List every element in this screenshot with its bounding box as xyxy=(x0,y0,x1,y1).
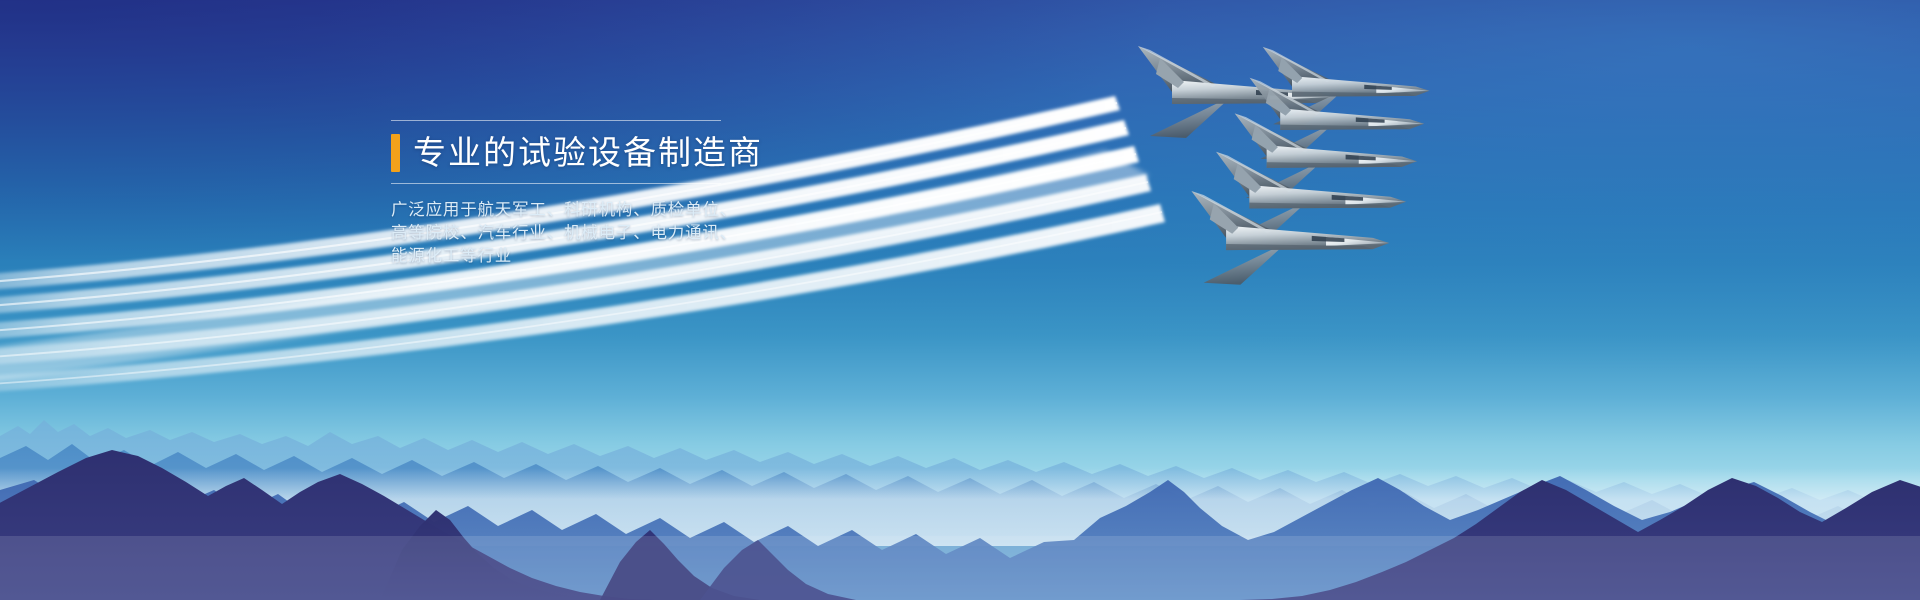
subtitle-line-1: 广泛应用于航天军工、科研机构、质检单位、 xyxy=(391,198,811,221)
mountain-range xyxy=(0,340,1920,600)
headline-row: 专业的试验设备制造商 xyxy=(391,134,811,172)
page-title: 专业的试验设备制造商 xyxy=(413,134,763,172)
divider-bottom xyxy=(391,183,721,184)
jet-formation xyxy=(1120,40,1540,290)
hero-banner: 专业的试验设备制造商 广泛应用于航天军工、科研机构、质检单位、 高等院校、汽车行… xyxy=(0,0,1920,600)
accent-bar-icon xyxy=(391,134,400,172)
subtitle-line-3: 能源化工等行业 xyxy=(391,244,811,267)
banner-copy: 专业的试验设备制造商 广泛应用于航天军工、科研机构、质检单位、 高等院校、汽车行… xyxy=(391,120,811,267)
subtitle-line-2: 高等院校、汽车行业、机械电子、电力通讯、 xyxy=(391,221,811,244)
divider-top xyxy=(391,120,721,121)
